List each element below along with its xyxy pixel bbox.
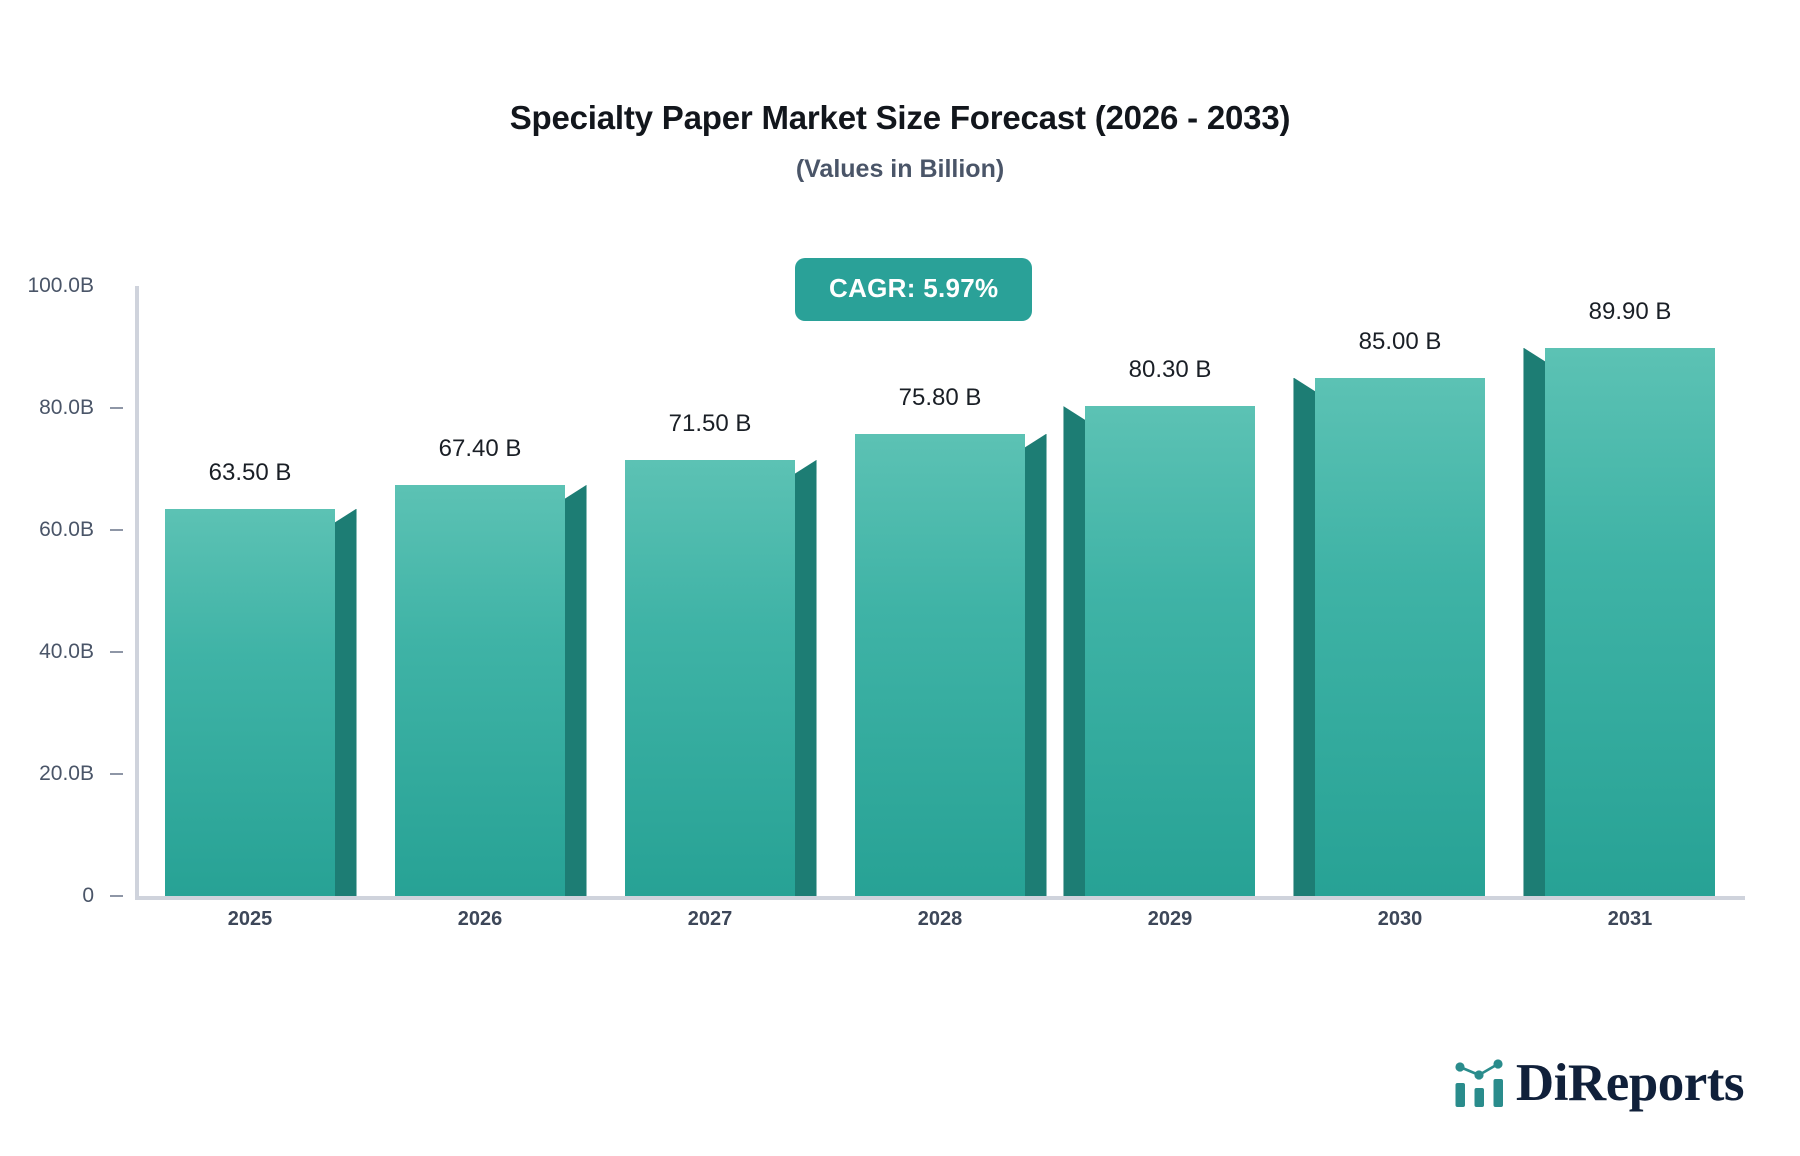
y-axis-tick-label: 20.0B (39, 762, 94, 786)
y-axis-tick: 60.0B (39, 518, 135, 542)
bar-slot: 67.40 B (395, 286, 564, 896)
bar-slot: 71.50 B (625, 286, 794, 896)
bar-slot: 75.80 B (855, 286, 1024, 896)
y-axis-tick-label: 0 (82, 884, 94, 908)
bar-depth-face (335, 509, 357, 896)
bar-value-label: 63.50 B (209, 459, 292, 487)
y-axis-tick: 80.0B (39, 396, 135, 420)
bar-front-face (1315, 378, 1484, 897)
bar-slot: 89.90 B (1545, 286, 1714, 896)
direports-logo: DiReports (1452, 1058, 1744, 1108)
bar-front-face (625, 460, 794, 896)
bar[interactable] (395, 485, 564, 896)
bar-front-face (1085, 406, 1254, 896)
y-axis-tick-label: 80.0B (39, 396, 94, 420)
bar-slot: 63.50 B (165, 286, 334, 896)
bar-value-label: 80.30 B (1129, 356, 1212, 384)
x-axis-tick-label: 2027 (688, 908, 733, 931)
y-axis-tick-mark (110, 285, 123, 287)
bar[interactable] (1545, 348, 1714, 896)
bar-value-label: 75.80 B (899, 384, 982, 412)
y-axis-tick-label: 40.0B (39, 640, 94, 664)
bar[interactable] (855, 434, 1024, 896)
bar-front-face (1545, 348, 1714, 896)
y-axis-tick: 0 (82, 884, 135, 908)
bar-value-label: 71.50 B (669, 410, 752, 438)
bar-chart-trend-icon (1452, 1058, 1506, 1108)
bar[interactable] (625, 460, 794, 896)
bar[interactable] (1315, 378, 1484, 897)
page-title: Specialty Paper Market Size Forecast (20… (0, 98, 1800, 138)
x-axis-tick-label: 2029 (1148, 908, 1193, 931)
title-block: Specialty Paper Market Size Forecast (20… (0, 98, 1800, 184)
bar[interactable] (165, 509, 334, 896)
bar-slot: 85.00 B (1315, 286, 1484, 896)
y-axis-tick-mark (110, 895, 123, 897)
x-axis-spine (135, 896, 1745, 900)
bar-value-label: 89.90 B (1589, 298, 1672, 326)
bar-depth-face (1063, 406, 1085, 896)
bar-slot: 80.30 B (1085, 286, 1254, 896)
y-axis-tick-label: 100.0B (27, 274, 94, 298)
y-axis-tick: 40.0B (39, 640, 135, 664)
bar-depth-face (795, 460, 817, 896)
bar-front-face (395, 485, 564, 896)
y-axis-tick: 20.0B (39, 762, 135, 786)
y-axis-tick-mark (110, 529, 123, 531)
bar[interactable] (1085, 406, 1254, 896)
x-axis-tick-label: 2028 (918, 908, 963, 931)
bar-depth-face (565, 485, 587, 896)
x-axis-tick-label: 2031 (1608, 908, 1653, 931)
bar-value-label: 85.00 B (1359, 328, 1442, 356)
x-axis-tick-label: 2025 (228, 908, 273, 931)
bar-depth-face (1523, 348, 1545, 896)
y-axis-tick-label: 60.0B (39, 518, 94, 542)
bar-front-face (855, 434, 1024, 896)
bar-series: 63.50 B67.40 B71.50 B75.80 B80.30 B85.00… (135, 286, 1745, 896)
bar-value-label: 67.40 B (439, 435, 522, 463)
y-axis-tick-mark (110, 407, 123, 409)
bar-depth-face (1025, 434, 1047, 896)
y-axis-tick-mark (110, 773, 123, 775)
chart-figure: Specialty Paper Market Size Forecast (20… (0, 0, 1800, 1156)
bar-depth-face (1293, 378, 1315, 897)
x-axis-tick-label: 2030 (1378, 908, 1423, 931)
y-axis-tick: 100.0B (27, 274, 135, 298)
plot-area: 100.0B80.0B60.0B40.0B20.0B0 63.50 B67.40… (135, 286, 1745, 896)
bar-front-face (165, 509, 334, 896)
x-axis-tick-label: 2026 (458, 908, 503, 931)
logo-wordmark: DiReports (1516, 1058, 1744, 1108)
chart-subtitle: (Values in Billion) (0, 154, 1800, 184)
y-axis-tick-mark (110, 651, 123, 653)
